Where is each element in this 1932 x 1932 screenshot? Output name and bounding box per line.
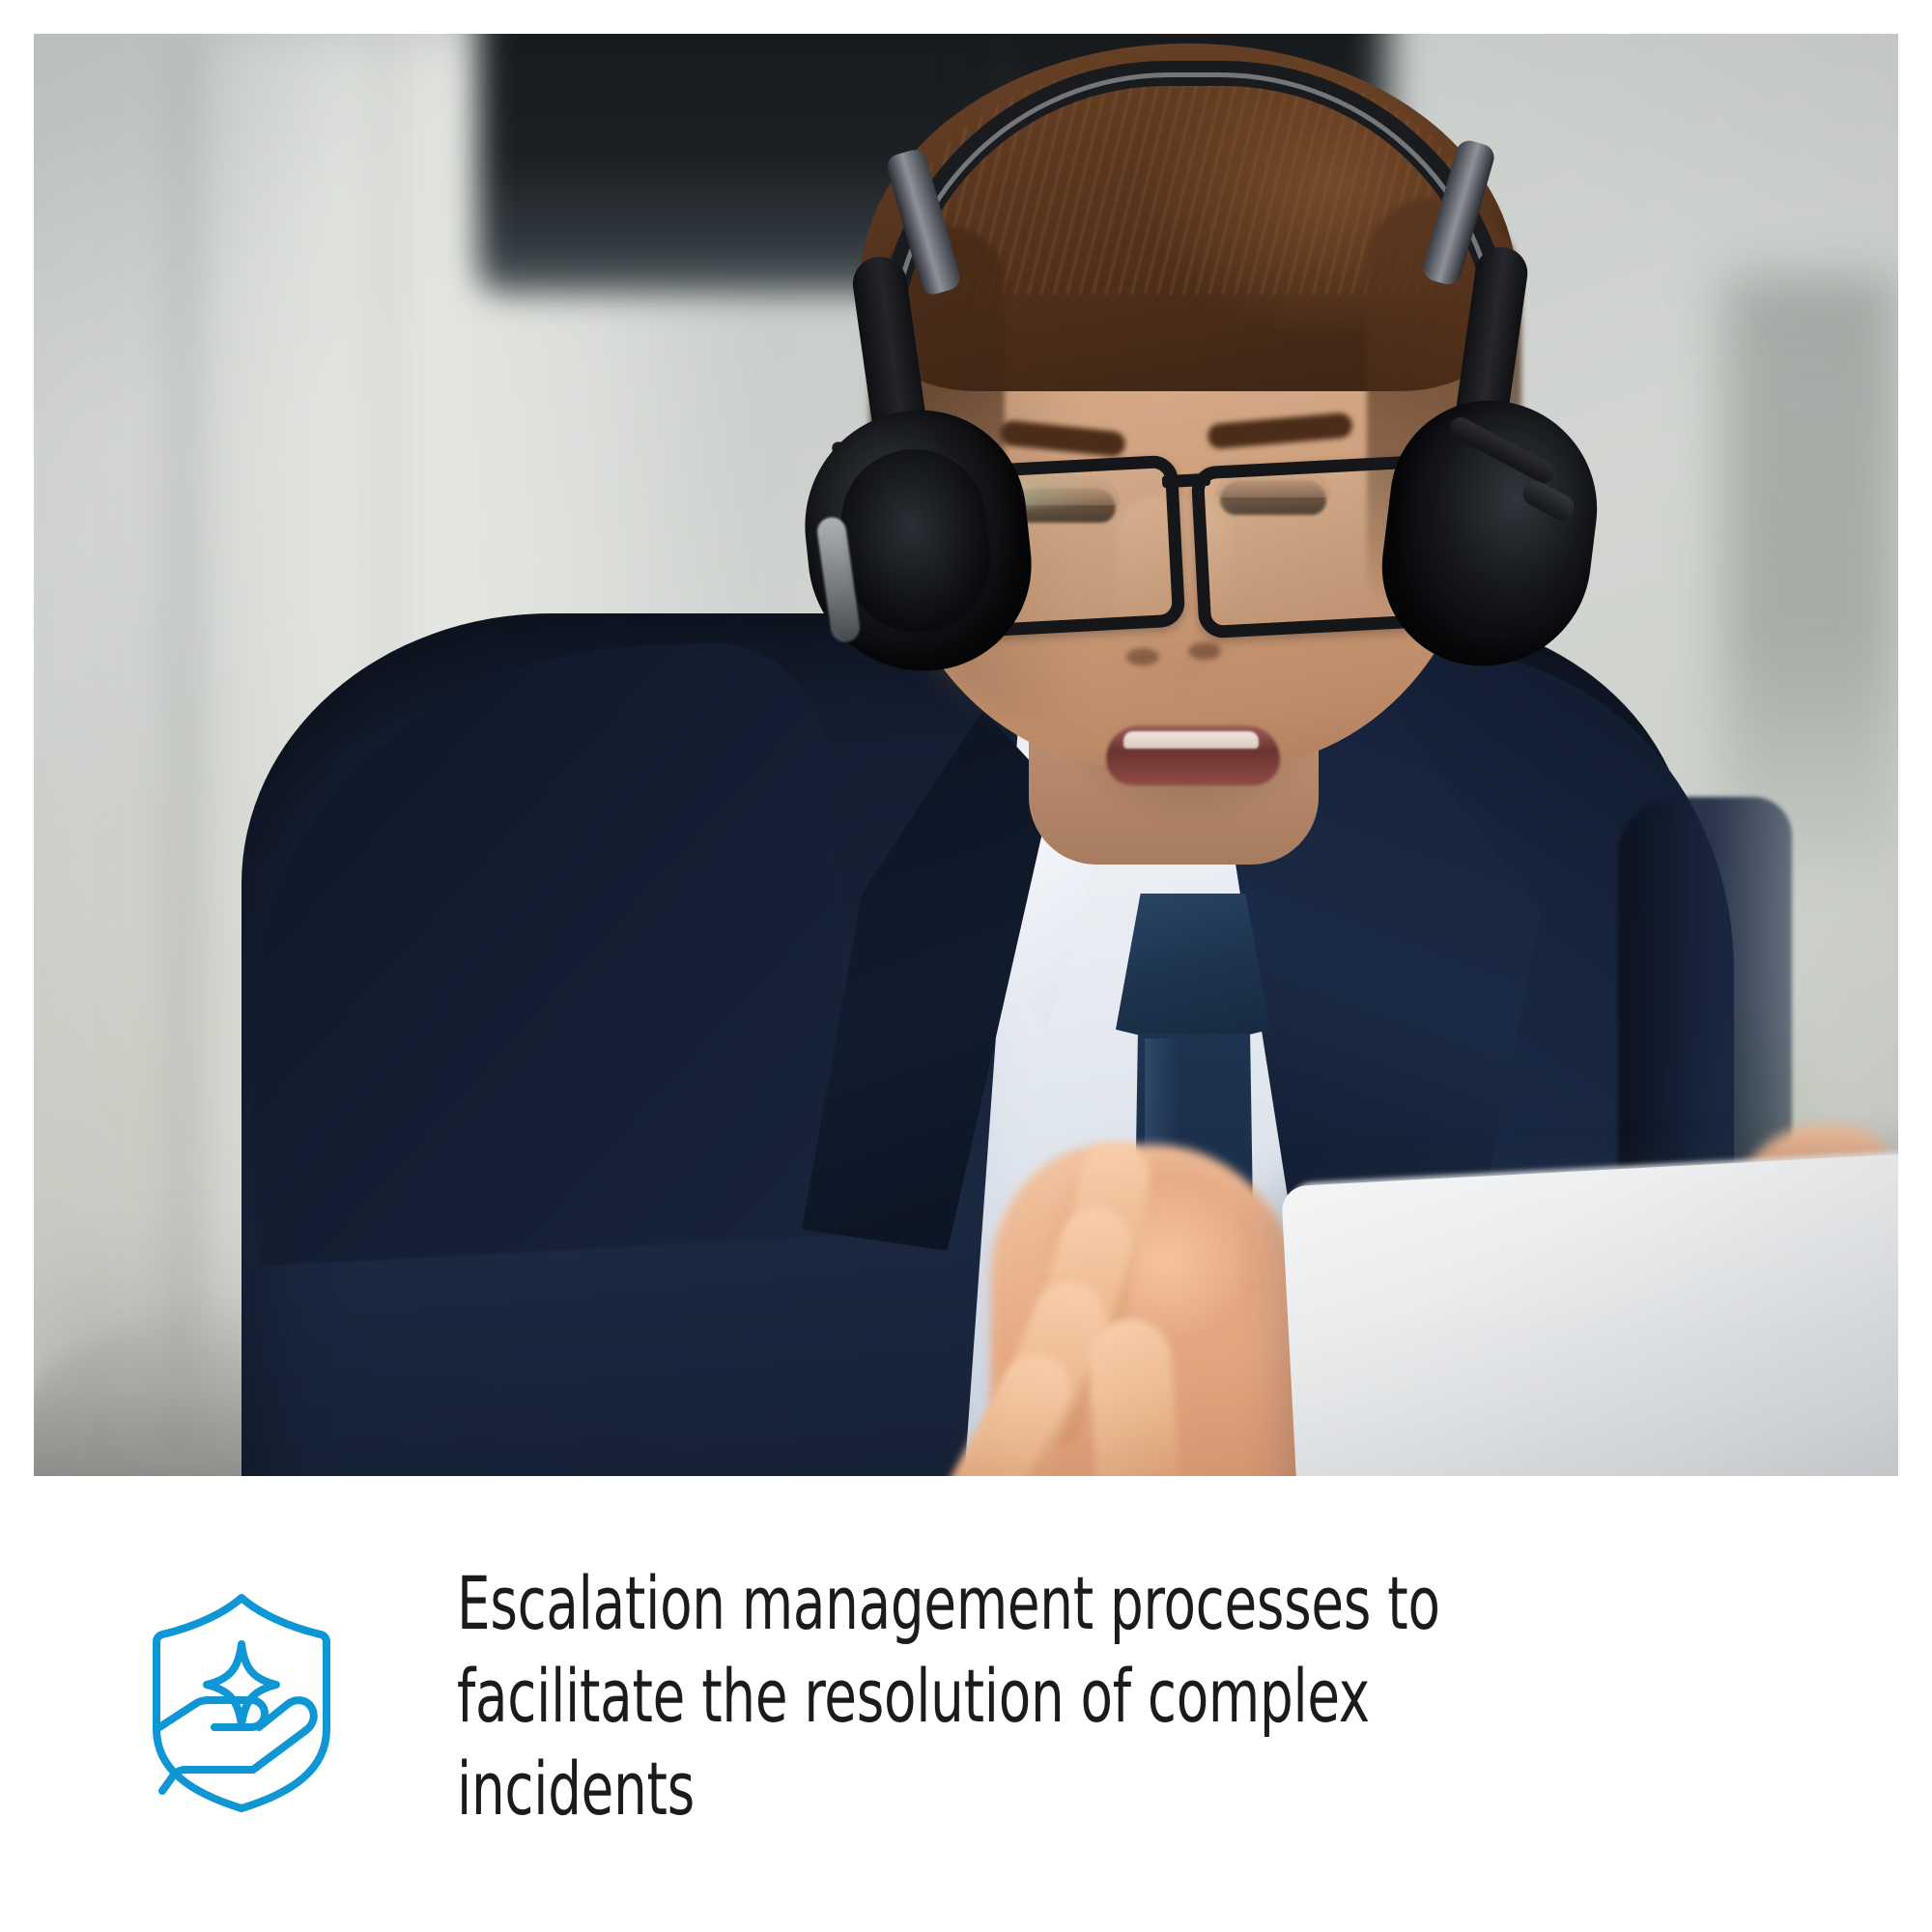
teeth bbox=[1123, 731, 1259, 749]
eyeglasses-bridge bbox=[1162, 473, 1211, 489]
feature-card: Escalation management processes to facil… bbox=[0, 0, 1932, 1932]
hero-photo bbox=[34, 34, 1898, 1476]
necktie-knot bbox=[1116, 894, 1270, 1048]
laptop bbox=[1281, 1151, 1898, 1476]
nostril-left bbox=[1126, 648, 1159, 666]
nostril-right bbox=[1188, 642, 1221, 660]
shield-hand-sparkle-icon bbox=[135, 1584, 348, 1816]
caption-block: Escalation management processes to facil… bbox=[34, 1546, 1898, 1864]
caption-text: Escalation management processes to facil… bbox=[457, 1557, 1492, 1835]
